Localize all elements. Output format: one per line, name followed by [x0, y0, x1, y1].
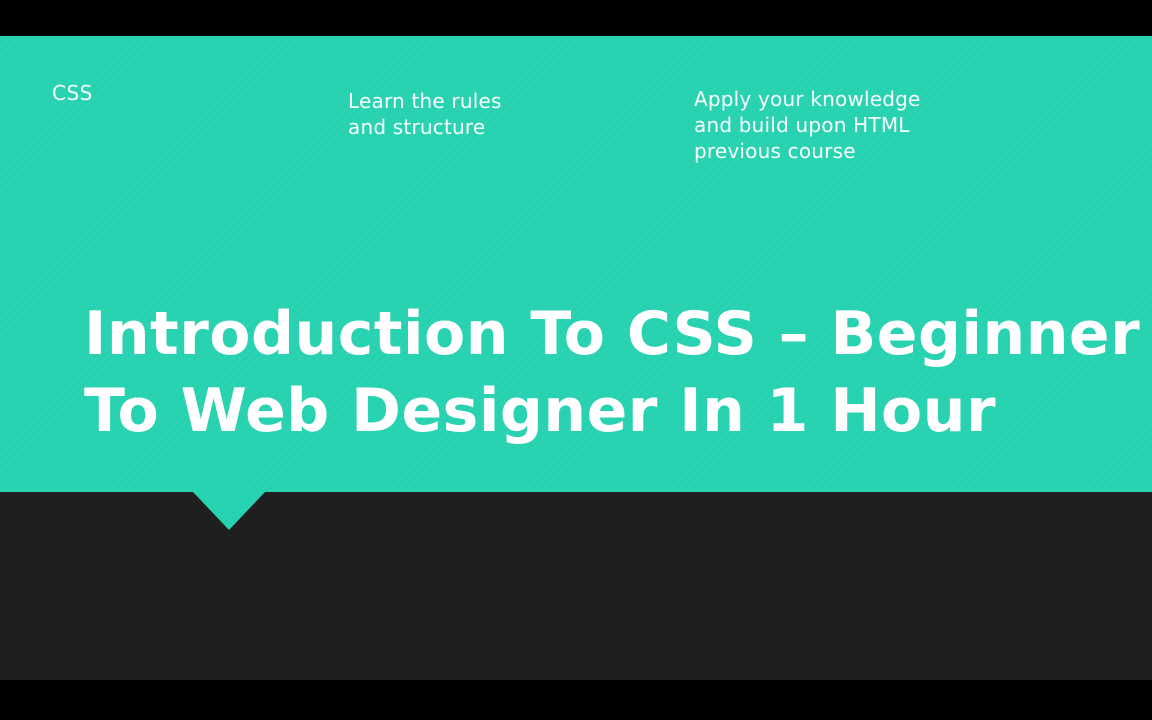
topic-tag: CSS	[52, 80, 93, 107]
slide-title-line-1: Introduction To CSS – Beginner	[84, 296, 1094, 373]
slide-title-line-2: To Web Designer In 1 Hour	[84, 373, 1094, 450]
apply-column-line-1: Apply your knowledge	[694, 86, 1094, 112]
learn-column-line-1: Learn the rules	[348, 88, 668, 114]
teal-panel-arrow	[193, 492, 265, 530]
apply-column-line-3: previous course	[694, 138, 1094, 164]
learn-column: Learn the rules and structure	[348, 88, 668, 140]
apply-column-line-2: and build upon HTML	[694, 112, 1094, 138]
slide-title: Introduction To CSS – Beginner To Web De…	[84, 296, 1094, 450]
presentation-slide: CSS Learn the rules and structure Apply …	[0, 0, 1152, 720]
learn-column-line-2: and structure	[348, 114, 668, 140]
apply-column: Apply your knowledge and build upon HTML…	[694, 86, 1094, 164]
